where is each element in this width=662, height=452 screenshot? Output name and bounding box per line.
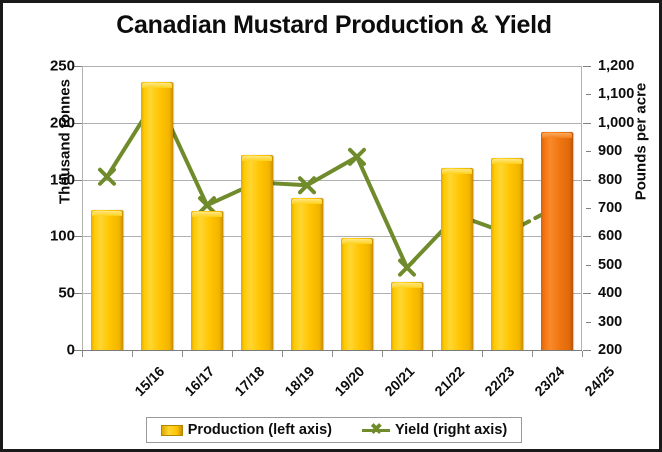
left-axis-tick-label: 50 xyxy=(21,286,75,301)
category-label: 21/22 xyxy=(431,363,467,399)
chart-legend: Production (left axis) ✖ Yield (right ax… xyxy=(146,417,522,443)
production-bar[interactable] xyxy=(141,82,173,350)
legend-item-production[interactable]: Production (left axis) xyxy=(161,422,332,438)
right-axis-tick xyxy=(586,151,591,152)
category-label: 22/23 xyxy=(481,363,517,399)
production-bar[interactable] xyxy=(341,238,373,350)
category-label: 17/18 xyxy=(231,363,267,399)
left-axis-tick xyxy=(74,123,82,124)
right-axis-tick-label: 400 xyxy=(598,286,644,301)
right-axis-tick-label: 600 xyxy=(598,229,644,244)
right-axis-tick-label: 300 xyxy=(598,314,644,329)
right-axis-tick xyxy=(583,123,591,124)
right-axis-tick-label: 1,000 xyxy=(598,116,644,131)
legend-label-production: Production (left axis) xyxy=(188,422,332,438)
right-axis-tick xyxy=(583,293,591,294)
right-axis-tick xyxy=(586,208,591,209)
legend-item-yield[interactable]: ✖ Yield (right axis) xyxy=(362,422,507,438)
production-swatch-icon xyxy=(161,425,183,436)
category-tick xyxy=(382,351,383,357)
category-label: 19/20 xyxy=(331,363,367,399)
category-label: 18/19 xyxy=(281,363,317,399)
left-axis-tick-label: 100 xyxy=(21,229,75,244)
right-axis-tick xyxy=(586,265,591,266)
left-axis-title: Thousand tonnes xyxy=(57,52,74,232)
yield-marker-icon: ✖ xyxy=(362,424,390,436)
left-axis-tick-label: 0 xyxy=(21,343,75,358)
category-label: 24/25 xyxy=(581,363,617,399)
category-tick xyxy=(182,351,183,357)
right-axis-tick xyxy=(583,236,591,237)
category-tick xyxy=(332,351,333,357)
gridline xyxy=(83,66,581,67)
left-axis-tick-label: 250 xyxy=(21,59,75,74)
left-axis-tick xyxy=(74,293,82,294)
legend-label-yield: Yield (right axis) xyxy=(395,422,507,438)
category-label: 20/21 xyxy=(381,363,417,399)
right-axis-tick-label: 1,100 xyxy=(598,87,644,102)
category-tick xyxy=(282,351,283,357)
production-bar[interactable] xyxy=(391,282,423,350)
right-axis-tick-label: 900 xyxy=(598,144,644,159)
left-axis-tick xyxy=(74,236,82,237)
category-tick xyxy=(482,351,483,357)
production-bar[interactable] xyxy=(191,211,223,350)
left-axis-tick xyxy=(74,66,82,67)
category-tick xyxy=(432,351,433,357)
category-tick xyxy=(532,351,533,357)
category-label: 15/16 xyxy=(131,363,167,399)
chart-title: Canadian Mustard Production & Yield xyxy=(3,11,662,40)
right-axis-tick xyxy=(583,66,591,67)
chart-container: Canadian Mustard Production & Yield Thou… xyxy=(0,0,662,452)
right-axis-tick-label: 500 xyxy=(598,258,644,273)
production-bar[interactable] xyxy=(241,155,273,350)
right-axis-tick-label: 1,200 xyxy=(598,59,644,74)
category-tick xyxy=(232,351,233,357)
production-bar[interactable] xyxy=(441,168,473,350)
right-axis-tick-label: 800 xyxy=(598,172,644,187)
production-bar[interactable] xyxy=(291,198,323,350)
production-bar[interactable] xyxy=(541,132,573,350)
right-axis-tick-label: 200 xyxy=(598,343,644,358)
category-tick xyxy=(582,351,583,357)
category-label: 16/17 xyxy=(181,363,217,399)
category-tick xyxy=(132,351,133,357)
production-bar[interactable] xyxy=(91,210,123,350)
right-axis-tick xyxy=(583,180,591,181)
right-axis-tick xyxy=(586,94,591,95)
left-axis-tick-label: 200 xyxy=(21,115,75,130)
left-axis-tick xyxy=(74,180,82,181)
category-label: 23/24 xyxy=(531,363,567,399)
right-axis-tick xyxy=(583,350,591,351)
left-axis-tick xyxy=(74,350,82,351)
category-tick xyxy=(82,351,83,357)
left-axis-tick-label: 150 xyxy=(21,172,75,187)
right-axis-tick-label: 700 xyxy=(598,201,644,216)
production-bar[interactable] xyxy=(491,158,523,350)
right-axis-tick xyxy=(586,322,591,323)
